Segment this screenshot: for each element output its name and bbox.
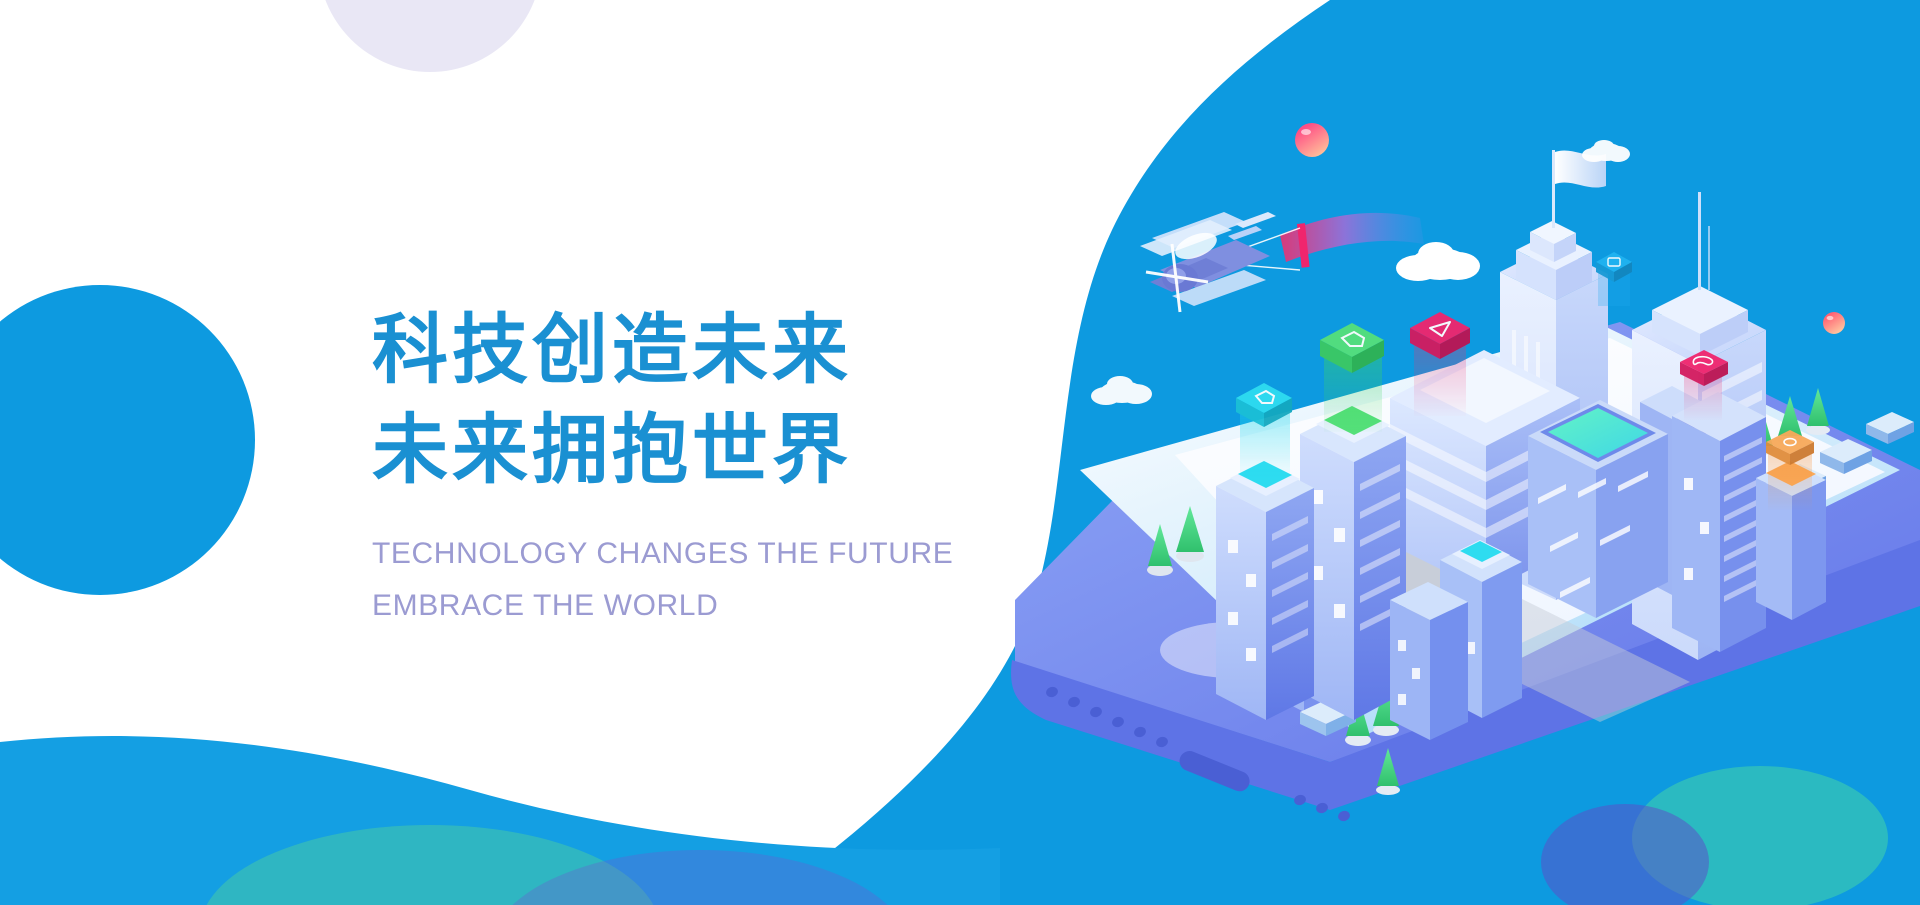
- headline-line-1: 科技创造未来: [372, 300, 1032, 400]
- hero-copy: 科技创造未来 未来拥抱世界 TECHNOLOGY CHANGES THE FUT…: [372, 300, 1032, 630]
- hero-banner: 科技创造未来 未来拥抱世界 TECHNOLOGY CHANGES THE FUT…: [0, 0, 1920, 905]
- building-cyan-beacon: [1216, 461, 1314, 720]
- building-front-left: [1390, 582, 1468, 740]
- building-striped-right: [1672, 392, 1766, 652]
- beacon-blue-grid: [1596, 252, 1632, 306]
- sphere-pink: [1295, 123, 1329, 157]
- beacon-cyan-chat: [1236, 383, 1292, 478]
- headline-line-2: 未来拥抱世界: [372, 400, 1032, 500]
- beacon-pink-phone: [1680, 350, 1728, 420]
- beacon-orange-camera: [1766, 430, 1814, 510]
- subheadline-line-2: EMBRACE THE WORLD: [372, 583, 1032, 630]
- beacon-pink-send: [1410, 312, 1470, 416]
- beacon-green-chat: [1320, 323, 1384, 432]
- building-rooftop-pool: [1528, 400, 1668, 618]
- sphere-coral: [1823, 312, 1845, 334]
- subheadline-line-1: TECHNOLOGY CHANGES THE FUTURE: [372, 531, 1032, 578]
